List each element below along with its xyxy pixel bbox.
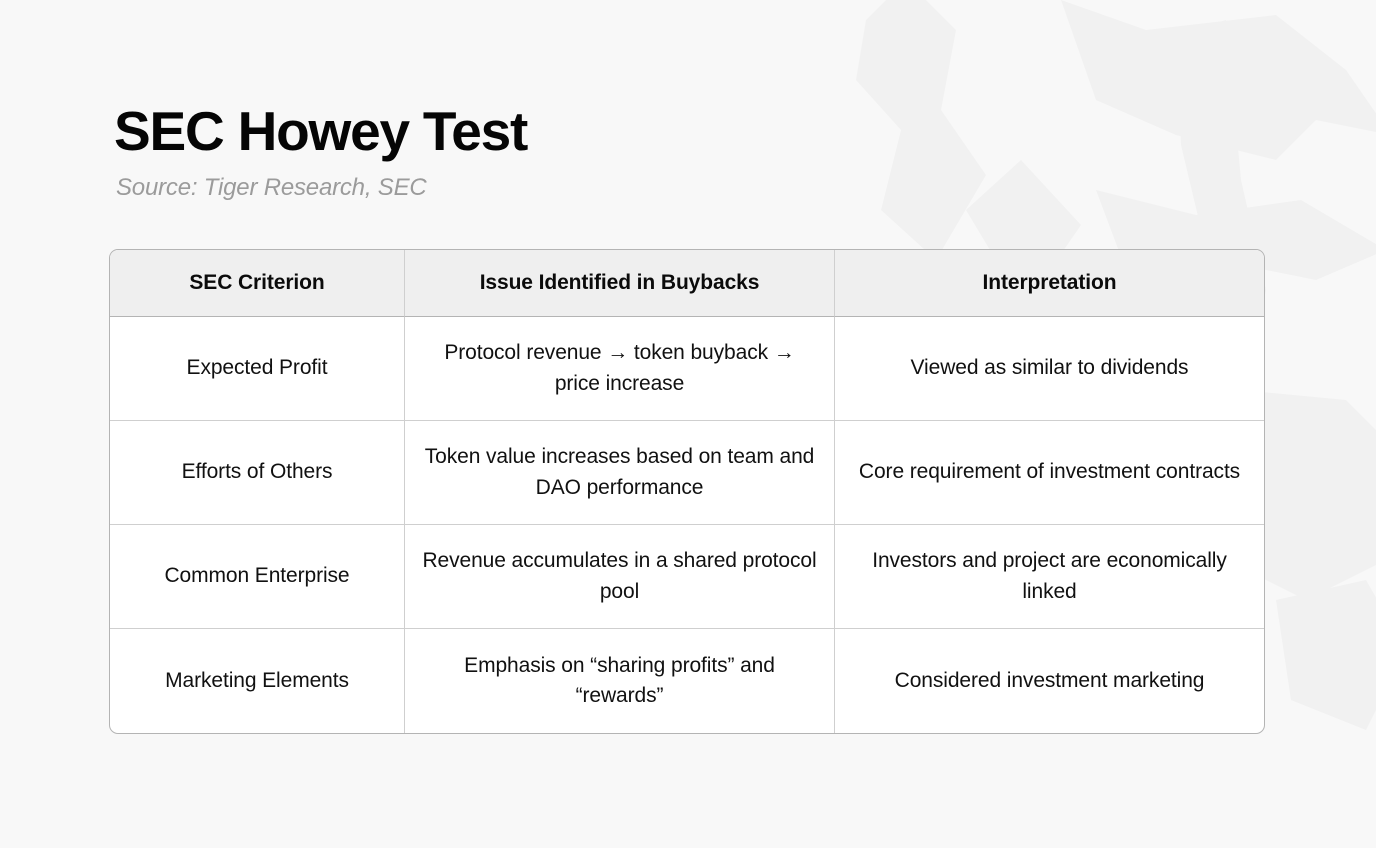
cell-criterion: Expected Profit (110, 317, 405, 421)
cell-interpretation: Investors and project are economically l… (835, 525, 1264, 629)
cell-interpretation: Considered investment marketing (835, 629, 1264, 733)
table-row: Marketing Elements Emphasis on “sharing … (110, 629, 1264, 733)
cell-issue: Protocol revenue → token buyback → price… (405, 317, 835, 421)
cell-criterion: Common Enterprise (110, 525, 405, 629)
cell-issue: Token value increases based on team and … (405, 421, 835, 525)
cell-issue: Emphasis on “sharing profits” and “rewar… (405, 629, 835, 733)
column-header-interpretation: Interpretation (835, 250, 1264, 317)
cell-criterion: Marketing Elements (110, 629, 405, 733)
howey-test-table: SEC Criterion Issue Identified in Buybac… (109, 249, 1265, 734)
table-header: SEC Criterion Issue Identified in Buybac… (110, 250, 1264, 317)
cell-interpretation: Core requirement of investment contracts (835, 421, 1264, 525)
cell-interpretation: Viewed as similar to dividends (835, 317, 1264, 421)
cell-criterion: Efforts of Others (110, 421, 405, 525)
table-header-row: SEC Criterion Issue Identified in Buybac… (110, 250, 1264, 317)
page-title: SEC Howey Test (114, 102, 1014, 161)
table-body: Expected Profit Protocol revenue → token… (110, 317, 1264, 733)
table-row: Expected Profit Protocol revenue → token… (110, 317, 1264, 421)
column-header-sec-criterion: SEC Criterion (110, 250, 405, 317)
source-caption: Source: Tiger Research, SEC (116, 175, 1014, 201)
table-row: Common Enterprise Revenue accumulates in… (110, 525, 1264, 629)
cell-issue: Revenue accumulates in a shared protocol… (405, 525, 835, 629)
table-row: Efforts of Others Token value increases … (110, 421, 1264, 525)
header-block: SEC Howey Test Source: Tiger Research, S… (114, 102, 1014, 202)
column-header-issue-identified: Issue Identified in Buybacks (405, 250, 835, 317)
howey-test-table-container: SEC Criterion Issue Identified in Buybac… (109, 249, 1265, 734)
